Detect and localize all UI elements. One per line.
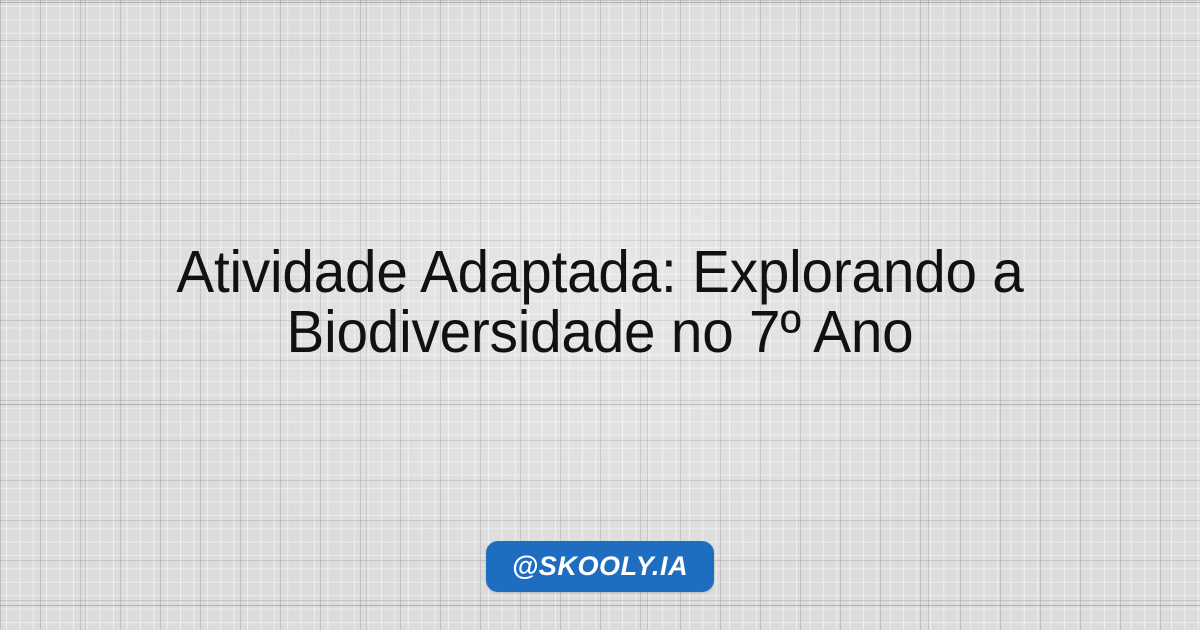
badge-container: @SKOOLY.IA	[0, 541, 1200, 592]
share-card: Atividade Adaptada: Explorando a Biodive…	[0, 0, 1200, 630]
title-block: Atividade Adaptada: Explorando a Biodive…	[0, 242, 1200, 362]
page-title: Atividade Adaptada: Explorando a Biodive…	[70, 242, 1130, 362]
brand-handle-badge[interactable]: @SKOOLY.IA	[486, 541, 714, 592]
